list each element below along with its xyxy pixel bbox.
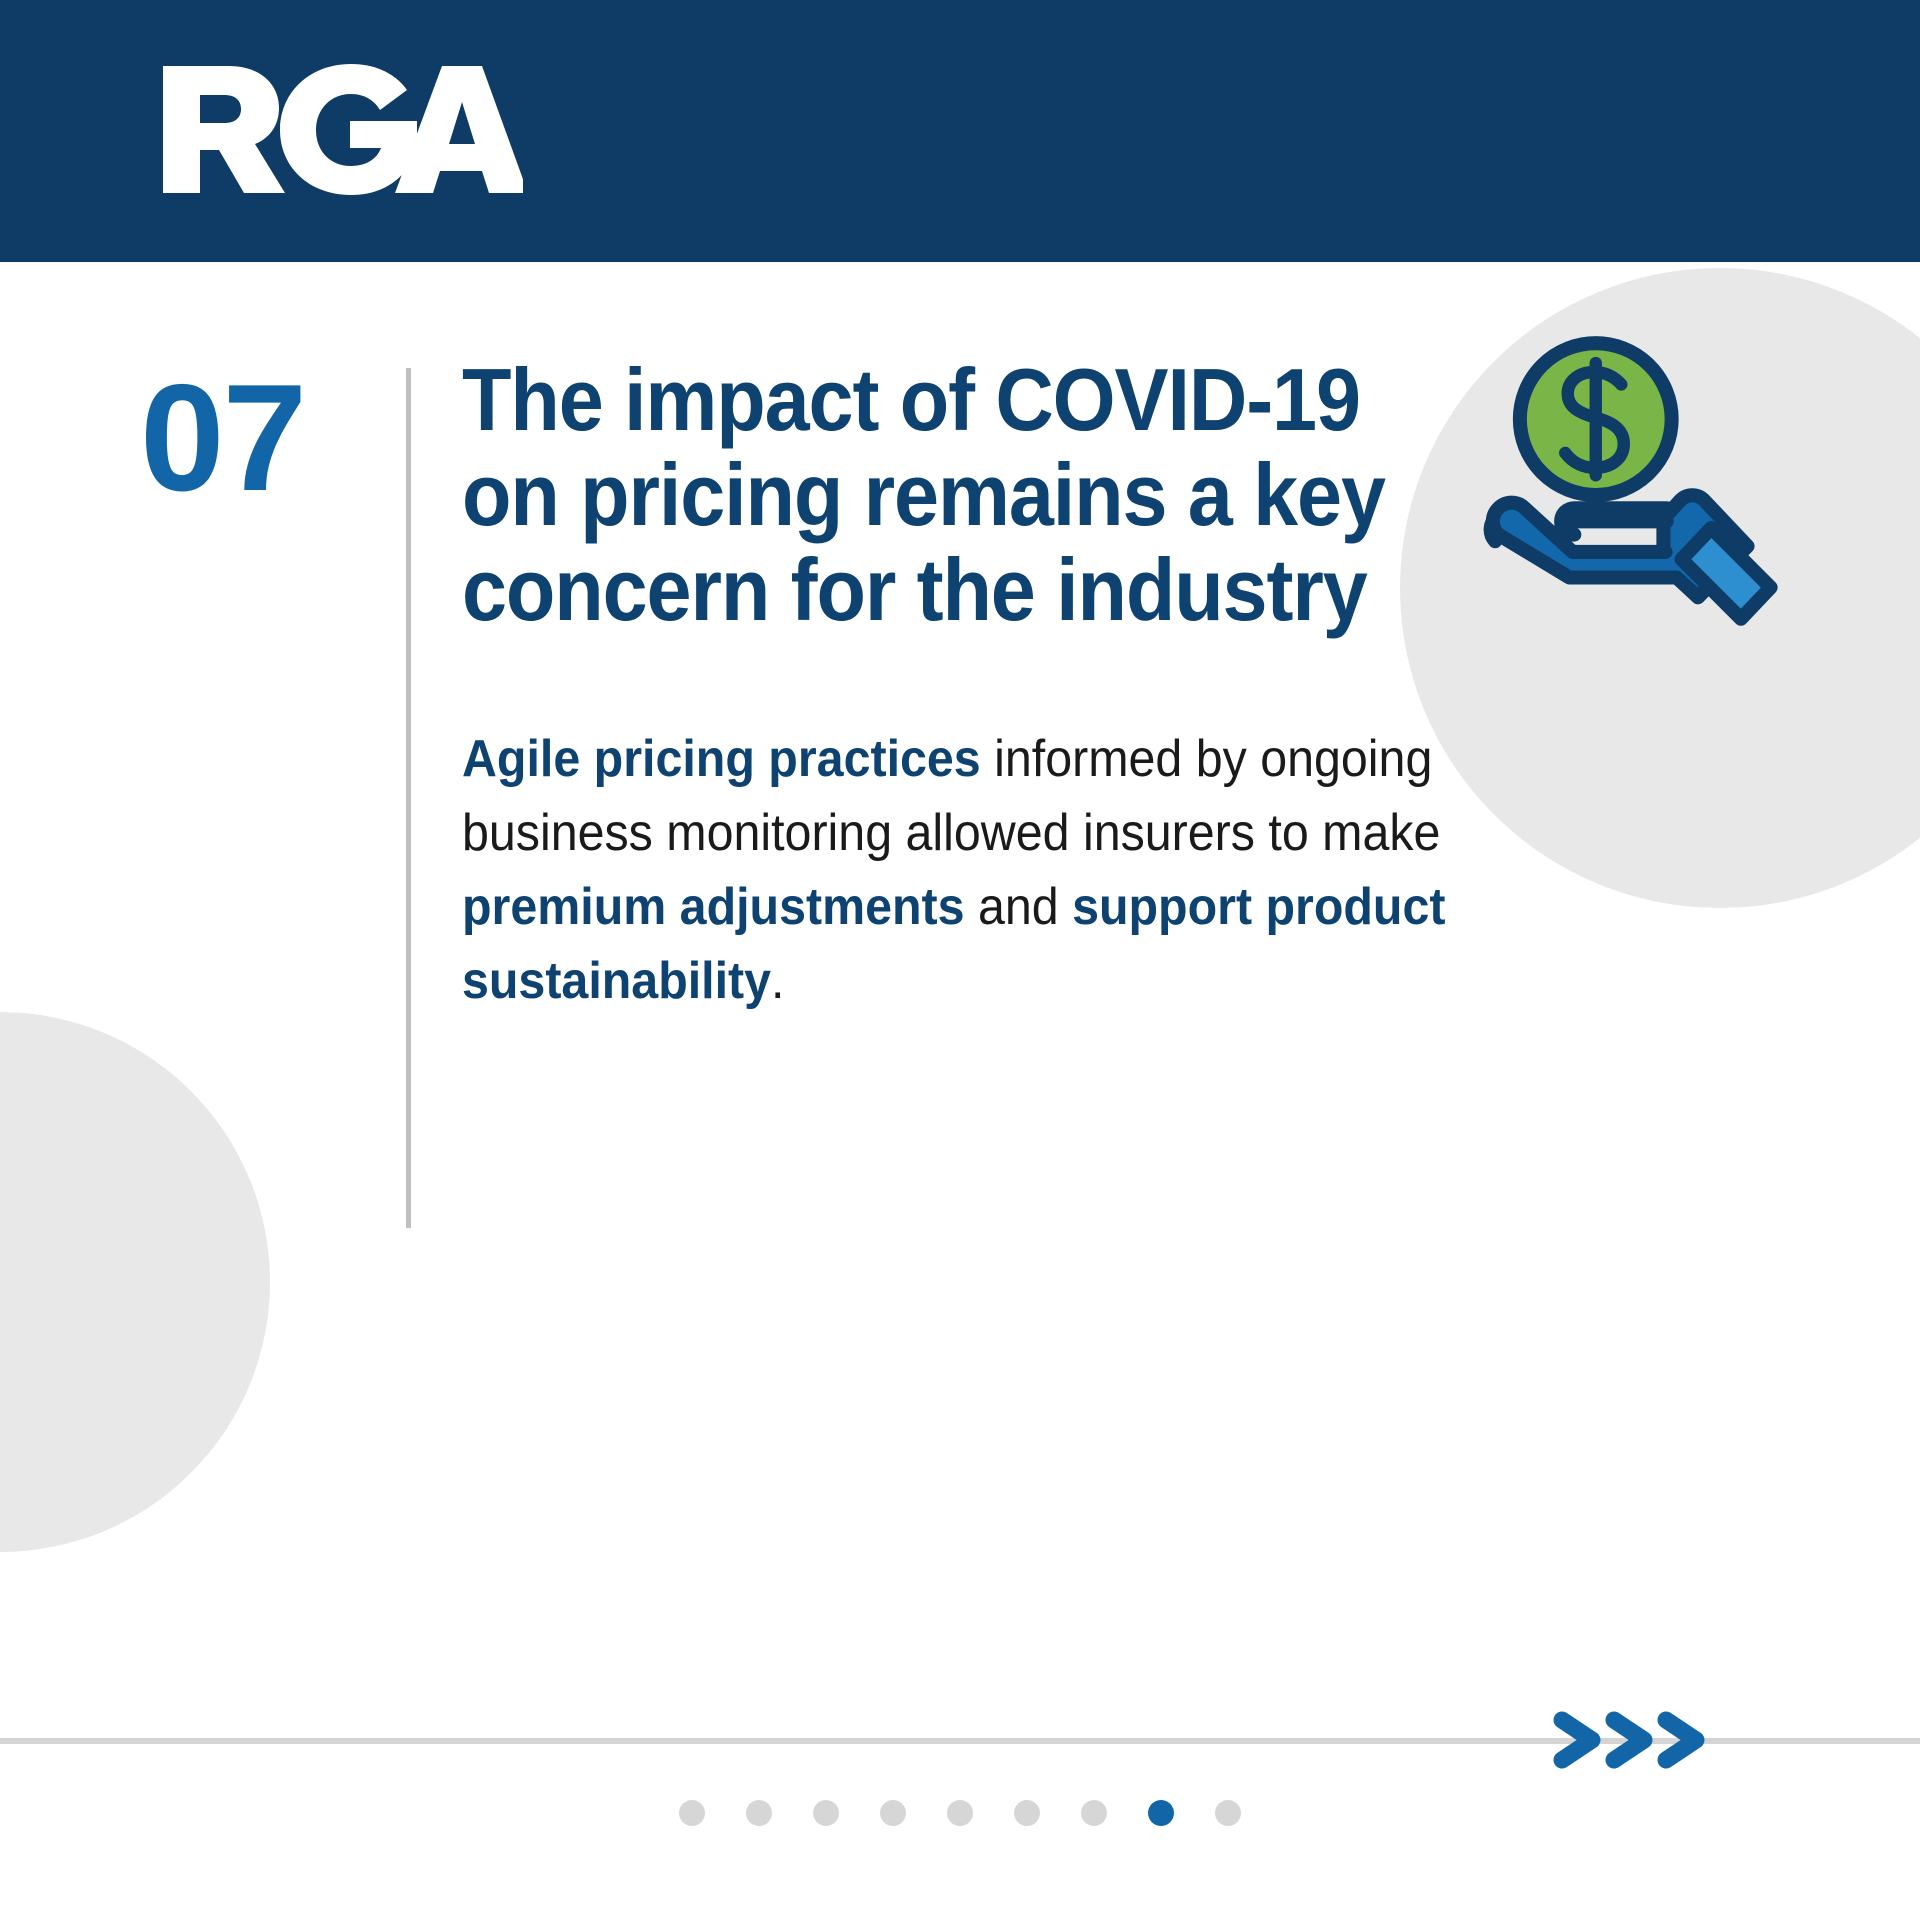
pagination-dot[interactable] [813, 1800, 839, 1826]
body-emphasis-span: premium adjustments [462, 878, 965, 936]
pagination-dot[interactable] [1215, 1800, 1241, 1826]
rga-logo [163, 62, 523, 197]
pagination-dot[interactable] [947, 1800, 973, 1826]
pagination-dot[interactable] [880, 1800, 906, 1826]
triple-chevron-right-icon[interactable] [1548, 1700, 1738, 1780]
slide-canvas: 07 The impact of COVID-19 on pricing rem… [0, 0, 1920, 1920]
body-emphasis-span: Agile pricing practices [462, 730, 981, 788]
decorative-circle-bottom-left [0, 1012, 270, 1552]
pagination-dot[interactable] [1081, 1800, 1107, 1826]
body-plain-span: and [965, 878, 1073, 936]
pagination-dots[interactable] [0, 1800, 1920, 1826]
hand-holding-coin-icon [1472, 330, 1802, 660]
text-column: The impact of COVID-19 on pricing remain… [462, 352, 1562, 1018]
slide-number: 07 [140, 362, 400, 514]
page-title: The impact of COVID-19 on pricing remain… [462, 352, 1474, 637]
pagination-dot[interactable] [679, 1800, 705, 1826]
body-paragraph: Agile pricing practices informed by ongo… [462, 723, 1485, 1018]
vertical-divider [406, 368, 411, 1228]
pagination-dot[interactable] [1014, 1800, 1040, 1826]
body-plain-span: . [771, 952, 784, 1010]
pagination-dot-active[interactable] [1148, 1800, 1174, 1826]
pagination-dot[interactable] [746, 1800, 772, 1826]
header-bar [0, 0, 1920, 262]
